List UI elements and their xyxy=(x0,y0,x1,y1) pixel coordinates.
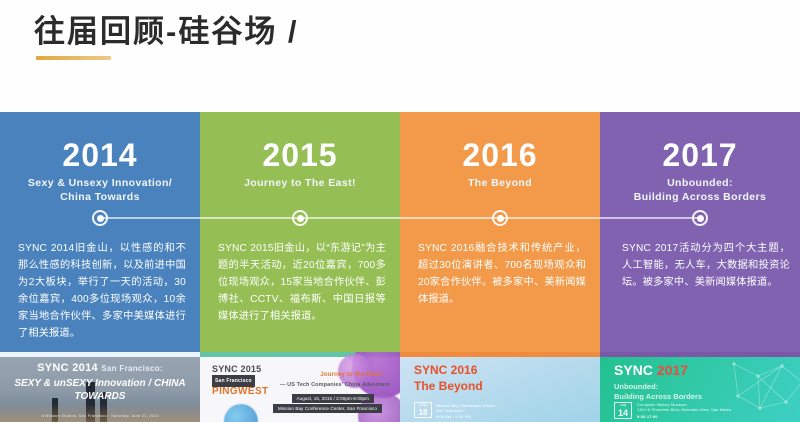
poster-tagline-2017: Unbounded: Building Across Borders xyxy=(614,382,702,402)
poster-detail-2017-2: 1401 N Shoreline Blvd, Mountain View, Sa… xyxy=(637,407,731,412)
poster-title-block-2015: SYNC 2015 San Francisco PINGWEST xyxy=(212,364,269,397)
poster-location-2014: San Francisco: xyxy=(101,364,163,373)
poster-date-day-2017: 14 xyxy=(615,408,631,418)
subtitle-2014: Sexy & Unsexy Innovation/ China Towards xyxy=(10,176,190,204)
timeline-node-2015[interactable] xyxy=(292,210,308,226)
year-label-2016: 2016 xyxy=(400,138,600,172)
poster-title-2016: SYNC 2016 xyxy=(414,363,477,377)
poster-detail-2015-2: Mission Bay Conference Center, San Franc… xyxy=(273,404,382,413)
description-2016: SYNC 2016融合技术和传统产业，超过30位演讲者、700名现场观众和20家… xyxy=(418,240,586,308)
page-title: 往届回顾-硅谷场 / xyxy=(34,12,299,52)
timeline-node-2017[interactable] xyxy=(692,210,708,226)
poster-footnote-2014: A Mission Studios, San Francisco · Satur… xyxy=(0,413,200,418)
timeline-column-2016[interactable]: 2016 The Beyond SYNC 2016融合技术和传统产业，超过30位… xyxy=(400,112,600,352)
timeline-rule-left-2016 xyxy=(400,217,500,219)
timeline-node-2014[interactable] xyxy=(92,210,108,226)
poster-brand-2015: PINGWEST xyxy=(212,387,269,397)
poster-topbar-2014 xyxy=(0,352,200,357)
slide-root: 往届回顾-硅谷场 / 2014 Sexy & Unsexy Innovation… xyxy=(0,0,800,422)
poster-title-2017: SYNC 2017 xyxy=(614,362,688,378)
poster-topbar-2016 xyxy=(400,352,600,357)
timeline-rule-right-2016 xyxy=(500,217,600,219)
timeline-column-2017[interactable]: 2017 Unbounded: Building Across Borders … xyxy=(600,112,800,352)
network-graphic-icon xyxy=(724,356,800,422)
subtitle-2015: Journey to The East! xyxy=(210,176,390,190)
year-label-2017: 2017 xyxy=(600,138,800,172)
event-poster-strip: SYNC 2014 San Francisco: SEXY & unSEXY I… xyxy=(0,352,800,422)
year-label-2014: 2014 xyxy=(0,138,200,172)
event-poster-2014[interactable]: SYNC 2014 San Francisco: SEXY & unSEXY I… xyxy=(0,352,200,422)
poster-subtagline-2015: — US Tech Companies' China Adventure xyxy=(280,382,390,388)
poster-title-prefix-2017: SYNC xyxy=(614,362,653,378)
description-2014: SYNC 2014旧金山，以性感的和不那么性感的科技创新，以及前进中国为2大板块… xyxy=(18,240,186,342)
timeline-rule-left-2015 xyxy=(200,217,300,219)
poster-title-text-2014: SYNC 2014 xyxy=(37,362,98,374)
description-2015: SYNC 2015旧金山，以“东游记”为主题的半天活动，近20位嘉宾，700多位… xyxy=(218,240,386,325)
poster-detail-2017-3: 9:30-17:00 xyxy=(637,414,658,419)
poster-tagline-2014: SEXY & unSEXY Innovation / CHINA TOWARDS xyxy=(4,377,196,403)
timeline-rule-2014 xyxy=(100,217,200,219)
slide-header: 往届回顾-硅谷场 / xyxy=(0,0,800,112)
poster-tagline-2015: Journey to the East! xyxy=(320,372,382,378)
subtitle-2016: The Beyond xyxy=(410,176,590,190)
event-poster-2015[interactable]: SYNC 2015 San Francisco PINGWEST Journey… xyxy=(200,352,400,422)
subtitle-2017: Unbounded: Building Across Borders xyxy=(610,176,790,204)
timeline-rule-right-2015 xyxy=(300,217,400,219)
year-label-2015: 2015 xyxy=(200,138,400,172)
event-poster-2016[interactable]: SYNC 2016 The Beyond JUNE 18 Mission Bay… xyxy=(400,352,600,422)
poster-detail-2015-1: August, 15, 2015 / 2:00pm-6:00pm xyxy=(292,394,375,403)
description-2017: SYNC 2017活动分为四个大主题，人工智能，无人车，大数据和投资论坛。被多家… xyxy=(622,240,790,291)
poster-title-year-2017: 2017 xyxy=(657,362,688,378)
poster-date-day-2016: 18 xyxy=(415,408,431,417)
title-underline-accent xyxy=(36,56,111,60)
timeline-rule-2017 xyxy=(600,217,700,219)
timeline-column-2014[interactable]: 2014 Sexy & Unsexy Innovation/ China Tow… xyxy=(0,112,200,352)
poster-tagline-2016: The Beyond xyxy=(414,379,483,393)
poster-date-badge-2017: July 14 xyxy=(614,402,632,419)
poster-title-2015: SYNC 2015 xyxy=(212,364,269,374)
poster-title-2014: SYNC 2014 San Francisco: xyxy=(0,362,200,374)
poster-detail-2016-2: San Francisco xyxy=(436,408,463,413)
poster-date-badge-2016: JUNE 18 xyxy=(414,402,432,418)
timeline-node-2016[interactable] xyxy=(492,210,508,226)
timeline-column-2015[interactable]: 2015 Journey to The East! SYNC 2015旧金山，以… xyxy=(200,112,400,352)
event-poster-2017[interactable]: SYNC 2017 Unbounded: Building Across Bor… xyxy=(600,352,800,422)
decorative-globe-icon xyxy=(224,404,258,422)
poster-detail-2016-3: 9:00 AM - 5:00 PM xyxy=(436,414,471,419)
timeline-columns: 2014 Sexy & Unsexy Innovation/ China Tow… xyxy=(0,112,800,352)
